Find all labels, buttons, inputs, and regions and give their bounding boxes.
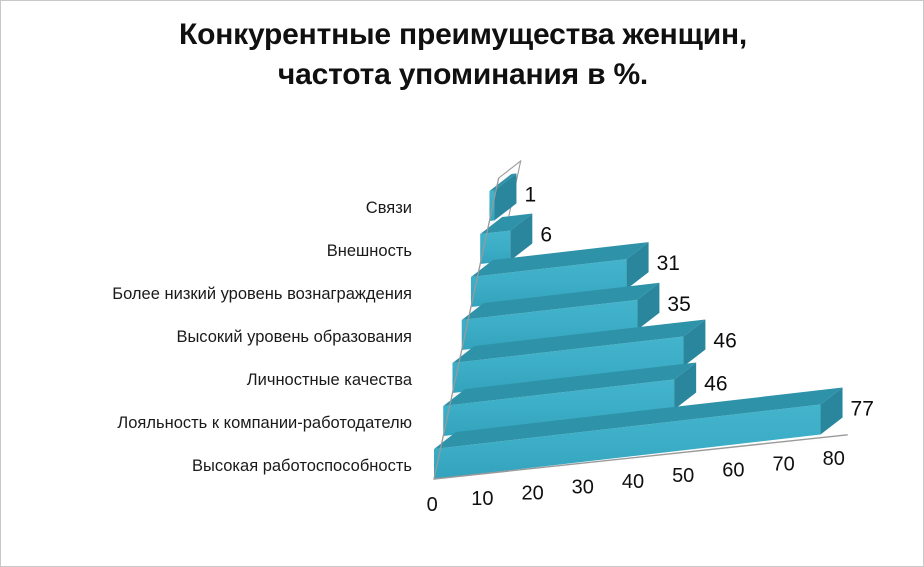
chart-x-tick-label: 40 [622, 471, 644, 493]
chart-value-label: 6 [540, 224, 552, 247]
chart-x-tick-label: 10 [471, 488, 493, 510]
chart-category-label: Высокий уровень образования [176, 328, 412, 346]
chart-x-tick-label: 70 [772, 454, 794, 476]
chart-value-label: 1 [524, 183, 536, 206]
chart-category-label: Более низкий уровень вознаграждения [112, 285, 412, 303]
chart-value-label: 77 [851, 398, 874, 421]
chart-value-label: 46 [704, 372, 727, 395]
chart-container: Конкурентные преимущества женщин, частот… [0, 0, 924, 567]
chart-category-label: Лояльность к компании-работодателю [117, 414, 412, 432]
chart-plot-area: СвязиВнешностьБолее низкий уровень возна… [1, 1, 924, 567]
chart-category-label: Личностные качества [247, 371, 413, 389]
chart-category-label: Внешность [327, 242, 412, 260]
chart-value-label: 31 [657, 252, 680, 275]
chart-x-tick-label: 80 [823, 448, 845, 470]
chart-x-tick-label: 20 [521, 482, 543, 504]
chart-value-label: 35 [667, 293, 690, 316]
chart-x-tick-label: 0 [427, 494, 438, 516]
chart-value-label: 46 [713, 329, 736, 352]
chart-category-labels: СвязиВнешностьБолее низкий уровень возна… [112, 199, 413, 475]
chart-category-label: Связи [366, 199, 412, 217]
chart-x-tick-label: 60 [722, 459, 744, 481]
chart-category-label: Высокая работоспособность [192, 457, 412, 475]
chart-x-tick-label: 30 [572, 477, 594, 499]
chart-bars [434, 173, 843, 479]
chart-x-tick-label: 50 [672, 465, 694, 487]
